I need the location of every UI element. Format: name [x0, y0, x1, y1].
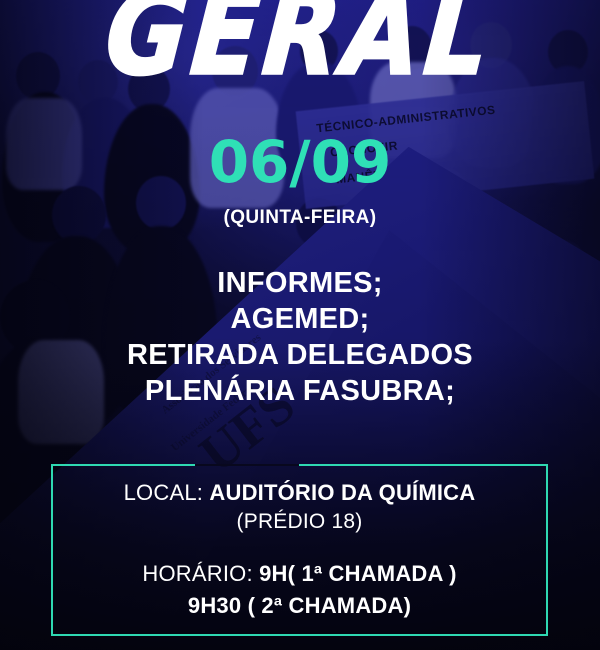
details-box-content: LOCAL: AUDITÓRIO DA QUÍMICA (PRÉDIO 18) …: [53, 466, 546, 634]
agenda-item: PLENÁRIA FASUBRA;: [0, 373, 600, 409]
time-line-second: 9H30 ( 2ª CHAMADA): [188, 590, 411, 622]
agenda-list: INFORMES; AGEMED; RETIRADA DELEGADOS PLE…: [0, 265, 600, 409]
poster-canvas: TÉCNICO-ADMINISTRATIVOS CACHOEIR MANÊN U…: [0, 0, 600, 650]
location-value: AUDITÓRIO DA QUÍMICA: [209, 480, 475, 505]
agenda-item: INFORMES;: [0, 265, 600, 301]
time-line-first: HORÁRIO: 9H( 1ª CHAMADA ): [142, 558, 456, 590]
poster-content: GERAL 06/09 (QUINTA-FEIRA) INFORMES; AGE…: [0, 0, 600, 650]
page-title: GERAL: [0, 0, 600, 100]
agenda-item: AGEMED;: [0, 301, 600, 337]
time-first-value: 9H( 1ª CHAMADA ): [259, 561, 457, 586]
details-box-border-gap: [195, 464, 299, 466]
location-detail: (PRÉDIO 18): [237, 508, 363, 536]
event-weekday: (QUINTA-FEIRA): [0, 207, 600, 229]
agenda-item: RETIRADA DELEGADOS: [0, 337, 600, 373]
details-box: LOCAL: AUDITÓRIO DA QUÍMICA (PRÉDIO 18) …: [51, 464, 548, 636]
location-line: LOCAL: AUDITÓRIO DA QUÍMICA: [124, 478, 476, 508]
time-label: HORÁRIO:: [142, 561, 252, 586]
location-label: LOCAL:: [124, 480, 203, 505]
event-date: 06/09: [0, 131, 600, 193]
